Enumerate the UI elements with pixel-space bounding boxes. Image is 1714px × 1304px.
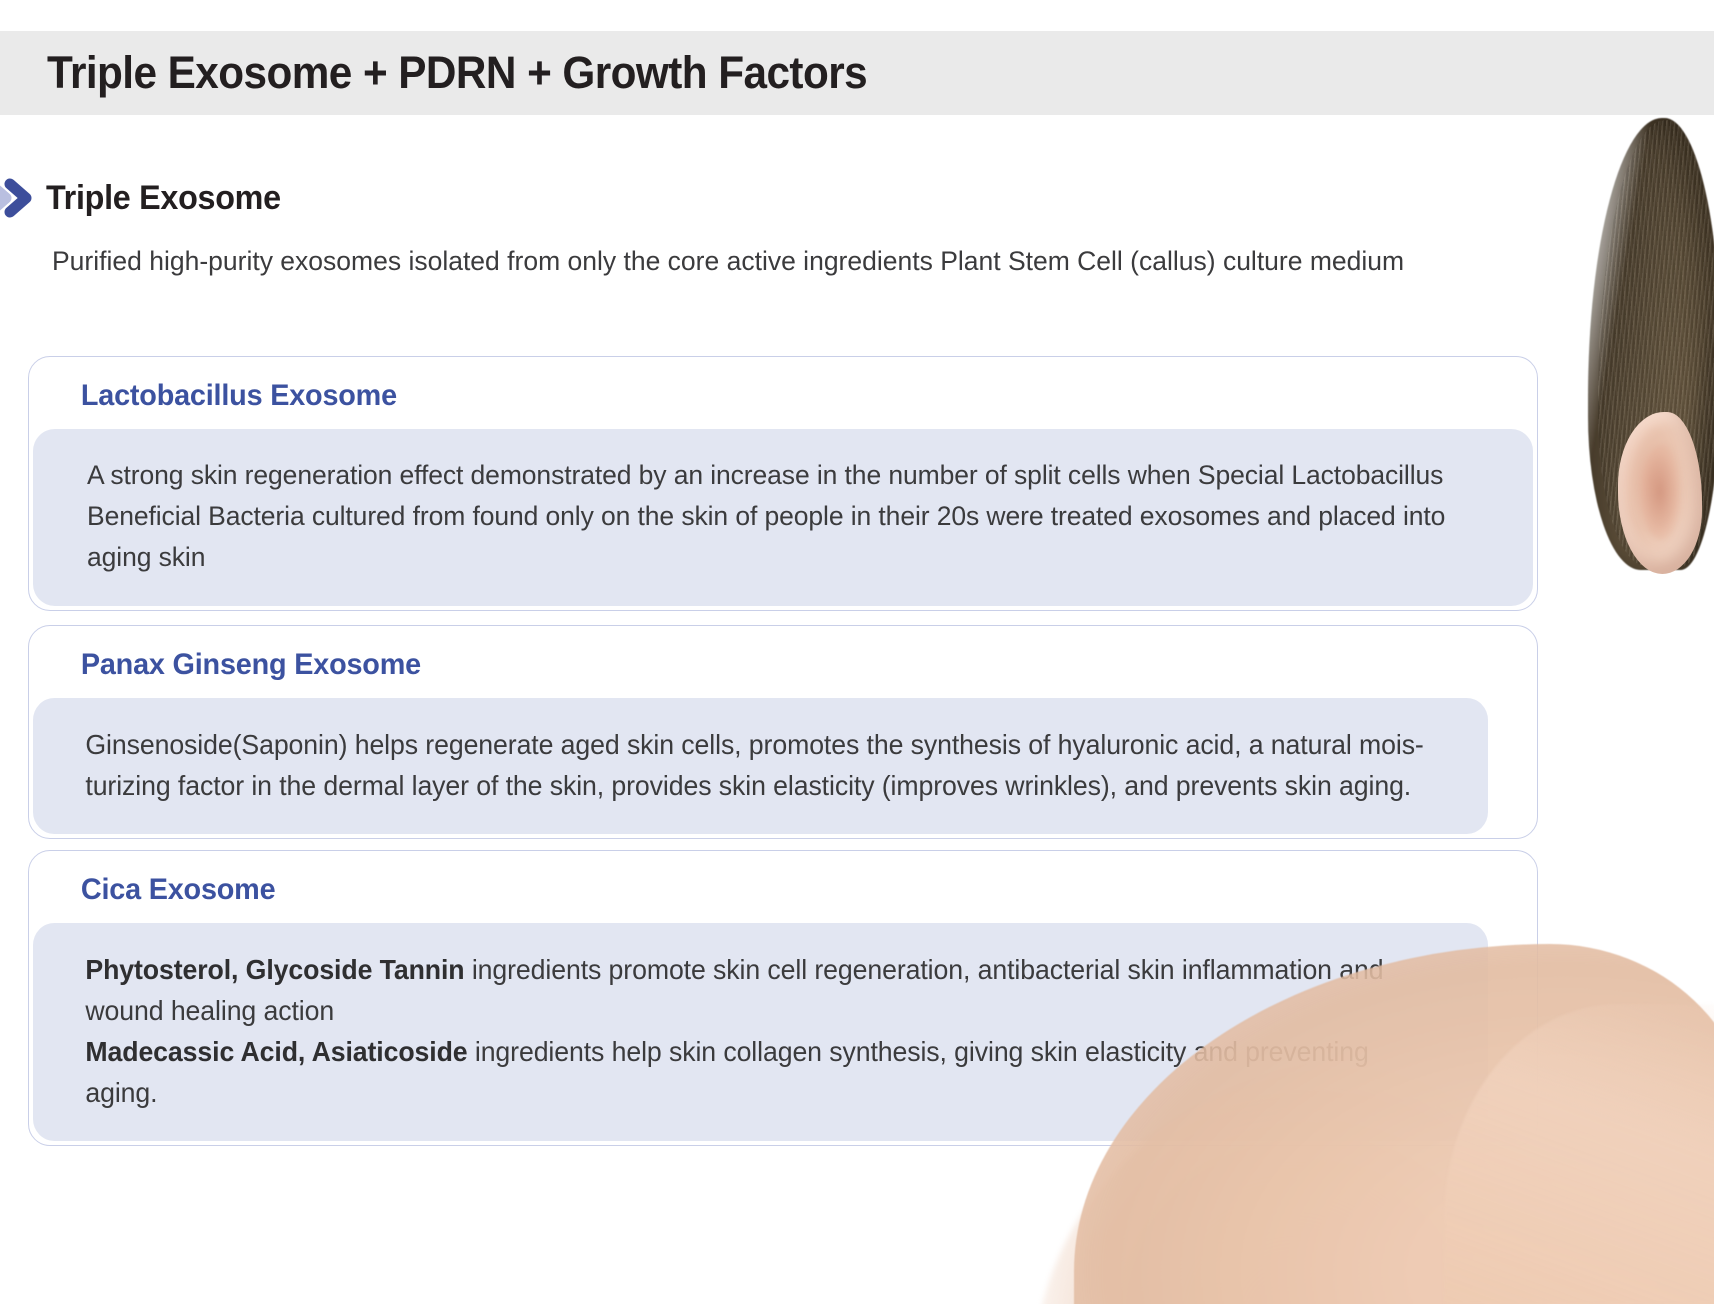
card-title: Panax Ginseng Exosome [29,626,1477,682]
card-title: Lactobacillus Exosome [29,357,1477,413]
section-title: Triple Exosome [46,179,281,218]
card-cica-exosome: Cica Exosome Phytosterol, Glycoside Tann… [28,850,1538,1146]
card-body: Ginsenoside(Saponin) helps regenerate ag… [33,698,1488,834]
card-body-paragraph: Madecassic Acid, Asiaticoside ingredient… [85,1036,1368,1108]
slide-page: Triple Exosome + PDRN + Growth Factors T… [0,0,1714,1304]
card-body: A strong skin regeneration effect demons… [33,429,1533,606]
card-body-paragraph: Phytosterol, Glycoside Tannin ingredient… [85,954,1383,1026]
card-body: Phytosterol, Glycoside Tannin ingredient… [33,923,1488,1141]
hair-shape [1588,118,1714,570]
ingredient-name-1: Phytosterol, Glycoside Tannin [85,954,464,985]
hair-texture [1598,120,1714,566]
section-description: Purified high-purity exosomes isolated f… [52,240,1482,283]
ear-shape [1618,412,1702,574]
ingredient-name-2: Madecassic Acid, Asiaticoside [85,1036,467,1067]
ear-inner-shadow [1640,444,1680,540]
double-chevron-right-icon [0,172,46,224]
section-heading: Triple Exosome [0,172,293,224]
card-lactobacillus-exosome: Lactobacillus Exosome A strong skin rege… [28,356,1538,611]
card-panax-ginseng-exosome: Panax Ginseng Exosome Ginsenoside(Saponi… [28,625,1538,839]
card-title: Cica Exosome [29,851,1477,907]
page-title: Triple Exosome + PDRN + Growth Factors [47,31,867,115]
